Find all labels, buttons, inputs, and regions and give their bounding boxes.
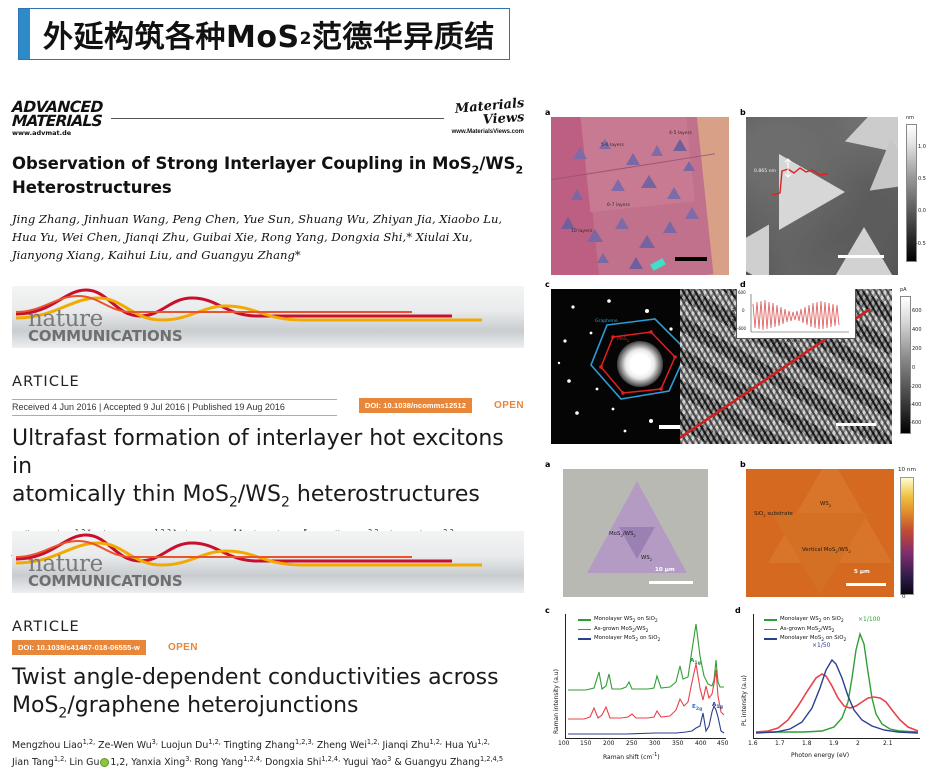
colorbar-tick-400: 400 [912, 327, 922, 333]
legend-item-mos2: Monolayer MoS2 on SiO2 [578, 635, 660, 643]
panel-letter-b: b [740, 108, 746, 117]
title-sub-2: 2 [515, 164, 523, 177]
legend-swatch-green-pl [764, 619, 777, 621]
inset-xtick-0: 0 [748, 339, 751, 344]
scalebar-label-5um: 5 μm [854, 569, 870, 575]
mos2-triangle [685, 207, 699, 219]
scalebar-bottom-b [846, 583, 886, 586]
materials-views-logo: Materials Views www.MaterialsViews.com [452, 100, 524, 135]
mos2-triangle [611, 179, 625, 191]
height-arrow [782, 157, 794, 179]
colorbar-panel-d [900, 296, 911, 434]
legend-swatch-red-pl [764, 629, 777, 631]
mos2-triangle [673, 139, 687, 151]
nc2-title-line-2a: MoS [12, 693, 58, 718]
mos2-triangle [573, 147, 587, 159]
mos2-triangle [641, 175, 657, 188]
open-access-label-1: OPEN [494, 400, 524, 411]
legend-item-asgrown: As-grown MoS2/WS2 [578, 626, 660, 634]
scalebar-label-10um: 10 μm [655, 567, 675, 573]
label-5-6-layers: 5-6 layers [601, 143, 624, 148]
panel-letter-raman: c [545, 606, 550, 615]
legend-item-asgrown-pl: As-grown MoS2/WS2 [764, 626, 846, 634]
communications-wordmark-2: COMMUNICATIONS [28, 574, 183, 589]
legend-label-mos2: Monolayer MoS2 on SiO2 [594, 635, 660, 643]
paper-title-advanced-materials: Observation of Strong Interlayer Couplin… [12, 154, 524, 198]
page-title: 外延构筑各种MoS2范德华异质结 [30, 9, 509, 59]
paper-card-advanced-materials: ADVANCED MATERIALS www.advmat.de Materia… [12, 100, 524, 264]
colorbar-tick-neg200: -200 [910, 384, 921, 390]
pl-xtick-1-9: 1.9 [829, 740, 839, 747]
paper-title-ncomms-2018: Twist angle-dependent conductivities acr… [12, 664, 524, 723]
advanced-materials-logo: ADVANCED MATERIALS www.advmat.de [12, 100, 103, 136]
inset-xtick-10: 10 [772, 339, 777, 344]
afm-triangle-right [863, 135, 898, 190]
raman-xlabel: Raman shift (cm-1) [603, 752, 660, 761]
pl-xtick-1-6: 1.6 [748, 740, 758, 747]
figures-column: a 4-5 layers 5-6 layers [545, 108, 935, 780]
doi-badge-1[interactable]: DOI: 10.1038/ncomms12512 [359, 398, 472, 413]
slide-title-bar: 外延构筑各种MoS2范德华异质结 [18, 8, 510, 60]
nc2-title-line-1: Twist angle-dependent conductivities acr… [12, 665, 499, 690]
peak-label-a1g-green: A1g [690, 658, 701, 666]
legend-label-asgrown: As-grown MoS2/WS2 [594, 626, 649, 634]
colorbar-tick-neg600: -600 [910, 420, 921, 426]
mos2-triangle [683, 161, 695, 171]
colorbar-tick-1-0: 1.0 [918, 144, 926, 150]
nature-communications-masthead-2: nature COMMUNICATIONS [12, 531, 524, 593]
journal-url: www.advmat.de [12, 131, 103, 137]
raman-xtick-100: 100 [558, 740, 569, 747]
raman-xtick-450: 450 [717, 740, 728, 747]
afm-image-heterostructure: SiO2 substrate WS2 Vertical MoS2/WS2 5 μ… [746, 469, 894, 597]
authors-line-2: Hua Yu, Wei Chen, Jianqi Zhu, Guibai Xie… [12, 229, 524, 247]
paper-title-ncomms-2016: Ultrafast formation of interlayer hot ex… [12, 425, 524, 513]
label-sio2-substrate: SiO2 substrate [754, 511, 793, 518]
nc-title-line-2c: heterostructures [290, 482, 480, 507]
legend-item-ws2-pl: Monolayer WS2 on SiO2 [764, 616, 846, 624]
pl-xlabel: Photon energy (eV) [791, 752, 849, 759]
scalebar-bottom-a [649, 581, 693, 584]
nc2-authors-line-1: Mengzhou Liao1,2, Ze-Wen Wu3, Luojun Du1… [12, 737, 524, 754]
figure-top-panel-a: a 4-5 layers 5-6 layers [545, 108, 735, 276]
orcid-icon[interactable] [100, 758, 109, 767]
title-suffix: 范德华异质结 [312, 12, 495, 56]
materials-views-line-2: Views [465, 111, 524, 128]
nc2-authors-line-2: Jian Tang1,2, Lin Gu1,2, Yanxia Xing3, R… [12, 754, 524, 771]
mos2-triangle [626, 153, 640, 165]
article-meta-row-2: DOI: 10.1038/s41467-018-06555-w OPEN [12, 640, 524, 655]
colorbar-bottom-b [900, 477, 914, 595]
panel-letter-bottom-a: a [545, 460, 550, 469]
authors-line-3: Jianyong Xiang, Kaihui Liu, and Guangyu … [12, 247, 524, 265]
nc<sup>2</sup>-authors-post: 1,2, Yanxia Xing3, Rong Yang1,2,4, Dongx… [110, 757, 503, 768]
article-section-label-1: ARTICLE [12, 374, 524, 390]
afm-triangle-bottom [830, 227, 898, 275]
nc2-title-line-2b: /graphene heterojunctions [67, 693, 358, 718]
label-4-5-layers: 4-5 layers [669, 131, 692, 136]
inset-ytick-600: 600 [738, 290, 746, 295]
colorbar-tick-0: 0 [912, 365, 915, 371]
nc<sup>2</sup>-authors-pre: Jian Tang1,2, Lin Gu [12, 757, 99, 768]
paper-authors-advanced-materials: Jing Zhang, Jinhuan Wang, Peng Chen, Yue… [12, 211, 524, 264]
inset-ytick-neg600: -600 [737, 326, 746, 331]
nc-title-line-2a: atomically thin MoS [12, 482, 229, 507]
mos2-triangle [597, 253, 609, 263]
article-meta-row-1: Received 4 Jun 2016 | Accepted 9 Jul 201… [12, 395, 524, 416]
height-profile-trace [770, 163, 830, 197]
panel-letter-bottom-b: b [740, 460, 746, 469]
legend-swatch-blue-pl [764, 638, 777, 640]
colorbar-min-0: 0 [902, 594, 906, 600]
paper-authors-ncomms-2018: Mengzhou Liao1,2, Ze-Wen Wu3, Luojun Du1… [12, 737, 524, 770]
moire-lattice-image: 600 0 -600 Current (pA) X (nm) 0 10 20 3… [680, 289, 892, 444]
figure-top-panel-d: d 600 0 -600 Current (pA) X (nm) 0 10 [740, 280, 935, 448]
legend-swatch-blue [578, 638, 591, 640]
scalebar-panel-a [675, 257, 707, 261]
mos2-triangle [667, 187, 681, 199]
colorbar-tick-600: 600 [912, 308, 922, 314]
panel-letter-c: c [545, 280, 550, 289]
scalebar-panel-d [836, 423, 876, 426]
materials-views-url: www.MaterialsViews.com [452, 129, 524, 135]
annotation-x1-50: ×1/50 [812, 642, 831, 649]
figure-bottom-panel-c-raman: c Raman intensity (a.u) Monolayer WS2 on… [545, 606, 735, 776]
raman-xtick-350: 350 [672, 740, 683, 747]
mos2-triangle [571, 189, 583, 200]
pl-ylabel: PL intensity (a.u) [741, 675, 748, 726]
label-ws2: WS2 [641, 555, 652, 562]
inset-trace [737, 289, 855, 338]
optical-micrograph-heterostructure: MoS2/WS2 WS2 10 μm [563, 469, 708, 597]
mos2-triangle [651, 145, 663, 156]
title-segment-1: Observation of Strong Interlayer Couplin… [12, 154, 472, 173]
raman-xtick-250: 250 [626, 740, 637, 747]
pl-xtick-2-0: 2 [856, 740, 860, 747]
raman-xtick-150: 150 [580, 740, 591, 747]
label-ws2-afm: WS2 [820, 501, 831, 508]
colorbar-tick-200: 200 [912, 346, 922, 352]
optical-micrograph-mos2-layers: 4-5 layers 5-6 layers 6-7 layers 10 laye… [551, 117, 729, 275]
height-annotation: 0.865 nm [754, 169, 776, 174]
publication-dates-row: Received 4 Jun 2016 | Accepted 9 Jul 201… [12, 399, 337, 416]
inset-ylabel: Current (pA) [732, 308, 737, 335]
inset-xtick-30: 30 [840, 339, 845, 344]
title-accent-bar [19, 9, 30, 59]
papers-column: ADVANCED MATERIALS www.advmat.de Materia… [0, 96, 540, 782]
raman-legend: Monolayer WS2 on SiO2 As-grown MoS2/WS2 … [578, 616, 660, 645]
colorbar-tick-neg-0-5: -0.5 [916, 241, 926, 247]
nature-communications-masthead-1: nature COMMUNICATIONS [12, 286, 524, 348]
communications-wordmark: COMMUNICATIONS [28, 329, 183, 344]
authors-line-1: Jing Zhang, Jinhuan Wang, Peng Chen, Yue… [12, 211, 524, 229]
advanced-materials-masthead: ADVANCED MATERIALS www.advmat.de Materia… [12, 100, 524, 136]
title-subscript: 2 [300, 29, 312, 49]
nc-title-line-1: Ultrafast formation of interlayer hot ex… [12, 426, 504, 479]
peak-label-a1g-blue: A1g [712, 702, 723, 710]
annotation-x1-100: ×1/100 [858, 616, 880, 623]
raman-xtick-400: 400 [695, 740, 706, 747]
legend-label-ws2: Monolayer WS2 on SiO2 [594, 616, 658, 624]
legend-label-asgrown-pl: As-grown MoS2/WS2 [780, 626, 835, 634]
title-segment-2: /WS [479, 154, 515, 173]
panel-letter-a: a [545, 108, 550, 117]
inset-ytick-0: 0 [742, 308, 745, 313]
label-10-layers: 10 layers [571, 229, 592, 234]
nc-title-sub-a: 2 [229, 495, 238, 511]
colorbar-unit-pa: pA [900, 287, 907, 293]
pl-plot-area: Monolayer WS2 on SiO2 As-grown MoS2/WS2 … [753, 614, 920, 739]
scalebar-panel-b [838, 255, 884, 258]
masthead-rule [111, 118, 444, 119]
article-section-label-2: ARTICLE [12, 619, 524, 635]
legend-swatch-red [578, 629, 591, 631]
colorbar-tick-neg400: -400 [910, 402, 921, 408]
raman-ylabel: Raman intensity (a.u) [553, 669, 560, 734]
legend-swatch-green [578, 619, 591, 621]
figure-bottom-panel-a: a MoS2/WS2 WS2 10 μm [545, 460, 735, 600]
doi-badge-2[interactable]: DOI: 10.1038/s41467-018-06555-w [12, 640, 146, 655]
publication-dates: Received 4 Jun 2016 | Accepted 9 Jul 201… [12, 402, 285, 412]
raman-xtick-300: 300 [649, 740, 660, 747]
afm-image-mos2-triangles: 0.865 nm [746, 117, 898, 275]
colorbar-unit-nm: nm [906, 115, 914, 121]
legend-item-mos2-pl: Monolayer MoS2 on SiO2 [764, 635, 846, 643]
legend-item-ws2: Monolayer WS2 on SiO2 [578, 616, 660, 624]
nc2-title-sub-a: 2 [58, 706, 67, 722]
figure-bottom-panel-d-pl: d PL intensity (a.u) Monolayer WS2 on Si… [735, 606, 935, 776]
label-graphene: Graphene [595, 319, 618, 324]
nc-title-line-2b: /WS [238, 482, 281, 507]
open-access-label-2: OPEN [168, 642, 198, 653]
peak-label-e2g: E2g [692, 704, 702, 712]
colorbar-tick-0-0: 0.0 [918, 208, 926, 214]
paper-card-ncomms-2018: nature COMMUNICATIONS ARTICLE DOI: 10.10… [12, 531, 524, 771]
raman-xtick-200: 200 [603, 740, 614, 747]
title-prefix: 外延构筑各种MoS [43, 12, 300, 56]
inset-xtick-20: 20 [814, 339, 819, 344]
mos2-triangle [639, 235, 655, 248]
panel-letter-pl: d [735, 606, 741, 615]
figure-top-panel-b: b 0.865 nm nm 1.0 0.5 0.0 -0.5 [740, 108, 935, 276]
pl-xtick-2-1: 2.1 [883, 740, 893, 747]
colorbar-max-10nm: 10 nm [898, 467, 916, 473]
pl-legend: Monolayer WS2 on SiO2 As-grown MoS2/WS2 … [764, 616, 846, 645]
inset-xlabel: X (nm) [786, 339, 801, 344]
colorbar-tick-0-5: 0.5 [918, 176, 926, 182]
mos2-triangle [663, 221, 677, 233]
label-vertical-mos2-ws2: Vertical MoS2/WS2 [802, 547, 851, 554]
logo-line-2: MATERIALS [12, 114, 104, 128]
nc-title-sub-b: 2 [281, 495, 290, 511]
mos2-triangle [629, 257, 643, 269]
mos2-triangle [615, 217, 629, 229]
label-mos2-ws2: MoS2/WS2 [609, 531, 636, 538]
mos2-triangle [561, 217, 575, 229]
label-6-7-layers: 6-7 layers [607, 203, 630, 208]
label-mos2-diffraction: MoS2 [617, 337, 629, 343]
legend-label-ws2-pl: Monolayer WS2 on SiO2 [780, 616, 844, 624]
inset-current-profile-chart: 600 0 -600 [736, 289, 856, 339]
figure-bottom-panel-b: b SiO2 substrate WS2 Vertical MoS2/WS2 5… [740, 460, 935, 600]
pl-xtick-1-7: 1.7 [775, 740, 785, 747]
title-segment-3: Heterostructures [12, 178, 172, 197]
raman-plot-area: Monolayer WS2 on SiO2 As-grown MoS2/WS2 … [565, 614, 726, 739]
pl-xtick-1-8: 1.8 [802, 740, 812, 747]
panel-letter-d: d [740, 280, 746, 289]
